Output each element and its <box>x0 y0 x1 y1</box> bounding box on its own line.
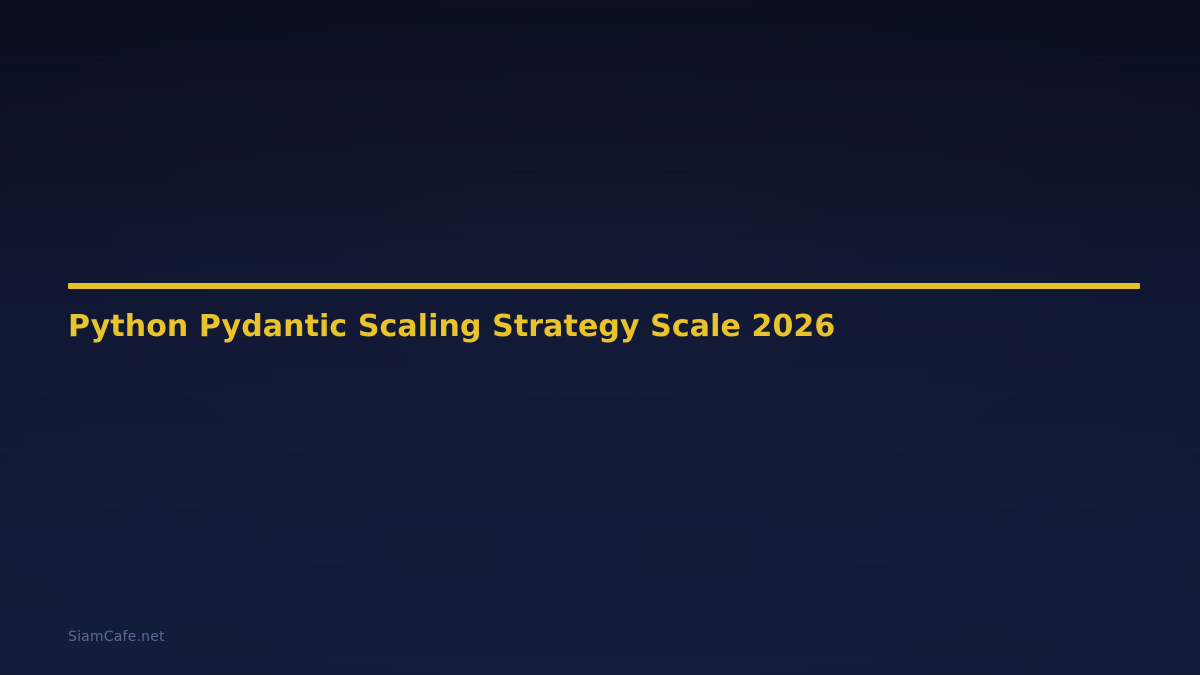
page-title: Python Pydantic Scaling Strategy Scale 2… <box>68 289 1140 344</box>
title-block: Python Pydantic Scaling Strategy Scale 2… <box>68 283 1140 344</box>
footer-watermark: SiamCafe.net <box>68 629 165 646</box>
presentation-slide: Python Pydantic Scaling Strategy Scale 2… <box>0 0 1200 675</box>
